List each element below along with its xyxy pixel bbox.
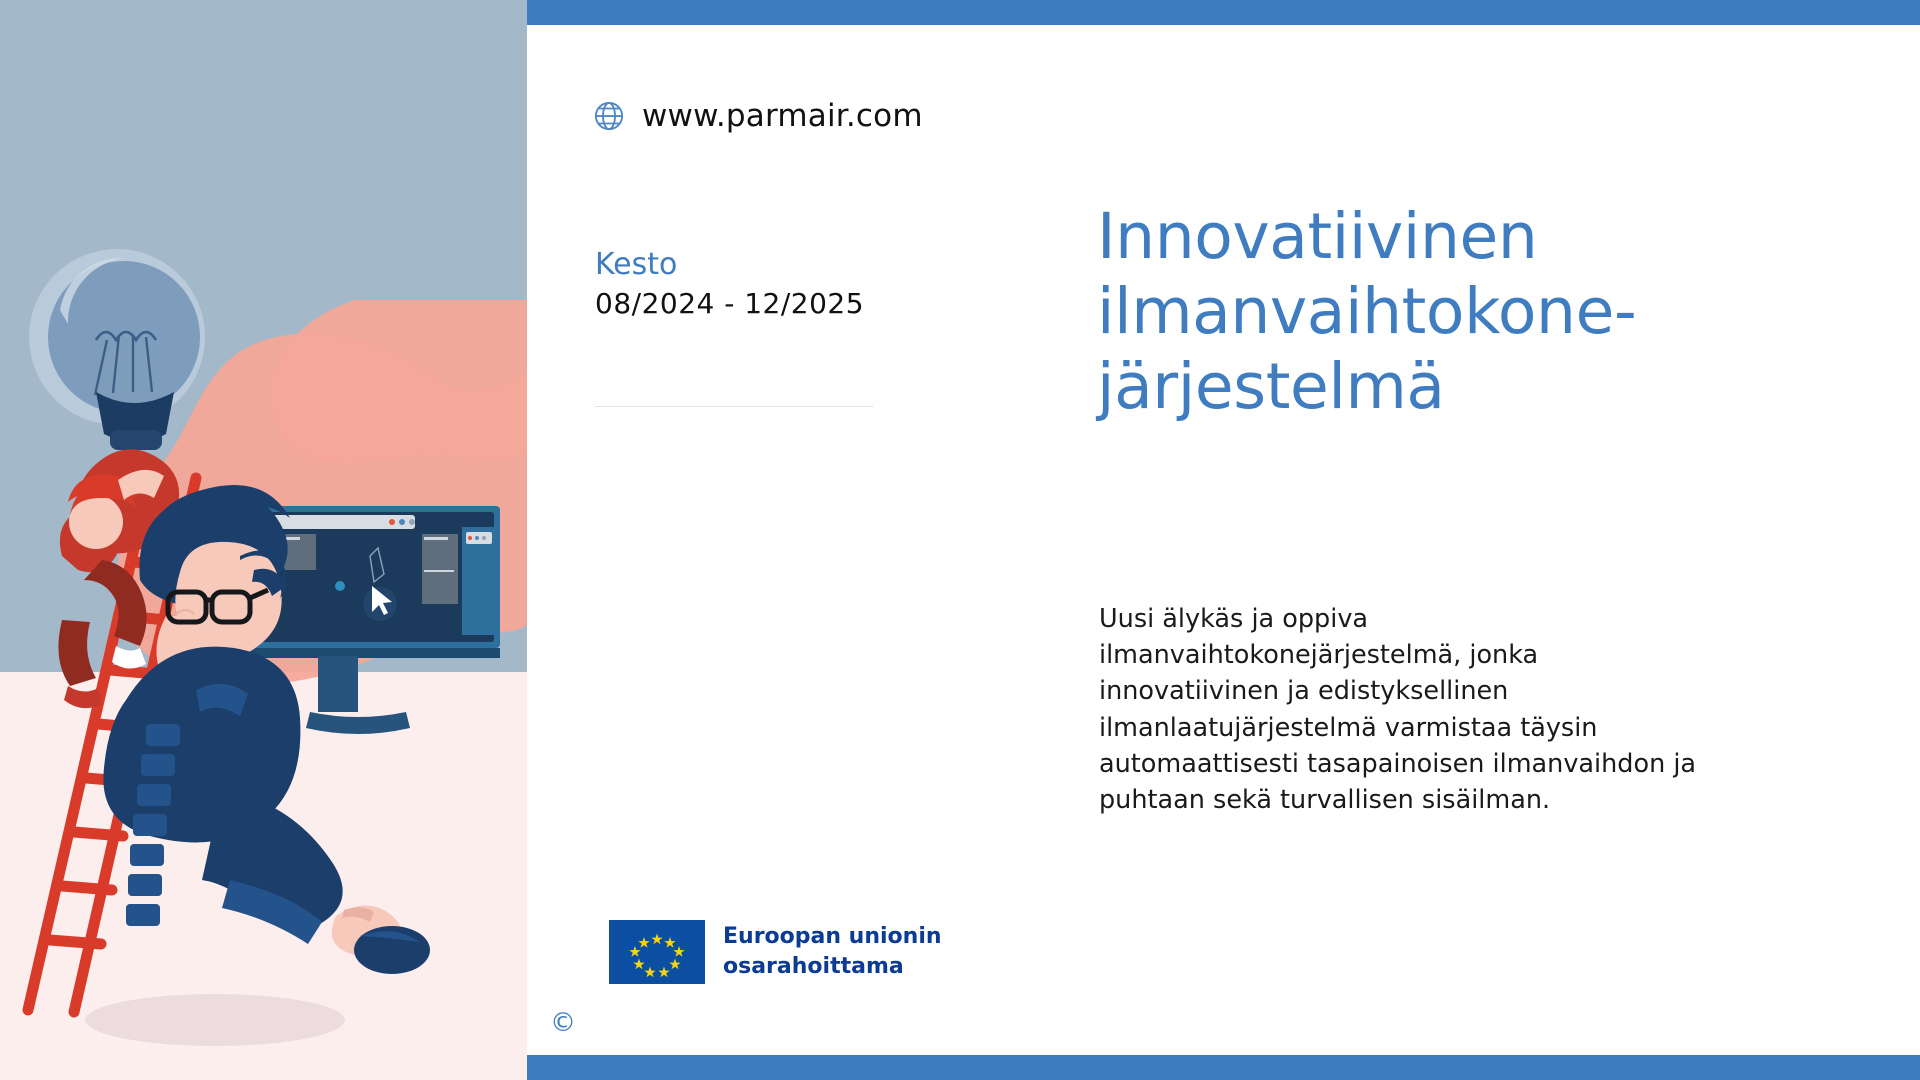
content-area: www.parmair.com Kesto 08/2024 - 12/2025 … [527, 25, 1920, 1055]
website-url[interactable]: www.parmair.com [642, 98, 923, 134]
illustration-panel [0, 0, 527, 1080]
eu-funding-text: Euroopan unionin osarahoittama [723, 922, 942, 983]
copyright-symbol: © [550, 1010, 576, 1036]
salmon-blob-2 [270, 300, 527, 464]
section-divider [595, 406, 873, 407]
page-title: Innovatiivinen ilmanvaihtokone-järjestel… [1097, 200, 1797, 425]
top-accent-bar [527, 0, 1920, 25]
description-paragraph: Uusi älykäs ja oppiva ilmanvaihtokonejär… [1099, 601, 1699, 818]
developer-at-desk-illustration [0, 0, 527, 1080]
duration-label: Kesto [595, 247, 885, 283]
bottom-accent-bar [527, 1055, 1920, 1080]
globe-icon [594, 101, 624, 131]
duration-value: 08/2024 - 12/2025 [595, 287, 885, 320]
website-row[interactable]: www.parmair.com [594, 98, 923, 134]
eu-flag-icon [609, 920, 705, 984]
slide-root: www.parmair.com Kesto 08/2024 - 12/2025 … [0, 0, 1920, 1080]
duration-block: Kesto 08/2024 - 12/2025 [595, 247, 885, 320]
eu-funding-row: Euroopan unionin osarahoittama [609, 920, 942, 984]
